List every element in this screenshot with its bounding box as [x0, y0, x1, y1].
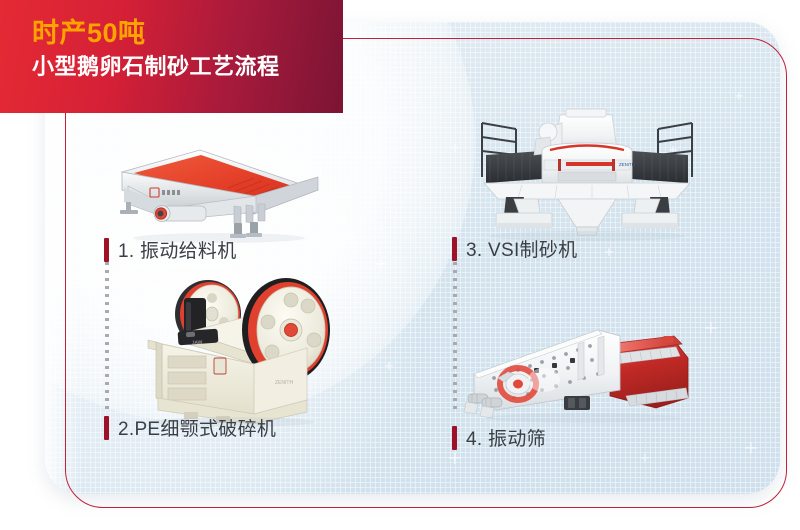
step-4-marker — [452, 426, 457, 450]
step-3-marker — [452, 237, 457, 261]
banner-headline: 时产50吨 — [32, 18, 343, 49]
vsi-sand-maker-image: ZENITH — [462, 105, 712, 240]
step-4-label-text: 4. 振动筛 — [466, 424, 546, 451]
svg-text:ZENITH: ZENITH — [619, 162, 635, 167]
poster-canvas: 1. 振动给料机 — [0, 0, 800, 530]
process-step-3: ZENITH — [452, 105, 712, 250]
vibrating-screen-image — [460, 312, 708, 424]
step-3-label-text: 3. VSI制砂机 — [466, 235, 577, 262]
step-4-label: 4. 振动筛 — [452, 424, 546, 451]
step-1-marker — [104, 238, 109, 262]
step-2-marker — [104, 416, 109, 440]
step-1-label: 1. 振动给料机 — [104, 236, 237, 263]
process-step-4: 4. 振动筛 — [452, 312, 712, 442]
banner-subheadline: 小型鹅卵石制砂工艺流程 — [32, 52, 343, 82]
svg-text:ZENITH: ZENITH — [275, 380, 293, 386]
process-step-2: JAW — [104, 272, 344, 442]
process-step-1: 1. 振动给料机 — [104, 128, 334, 248]
vibrating-feeder-image — [104, 128, 334, 240]
title-banner: 时产50吨 小型鹅卵石制砂工艺流程 — [0, 0, 343, 113]
jaw-crusher-image: JAW — [132, 272, 347, 424]
step-2-label-text: 2.PE细颚式破碎机 — [118, 414, 276, 441]
step-3-label: 3. VSI制砂机 — [452, 235, 577, 262]
step-2-label: 2.PE细颚式破碎机 — [104, 414, 276, 441]
step-1-label-text: 1. 振动给料机 — [118, 236, 237, 263]
svg-text:JAW: JAW — [192, 340, 203, 347]
